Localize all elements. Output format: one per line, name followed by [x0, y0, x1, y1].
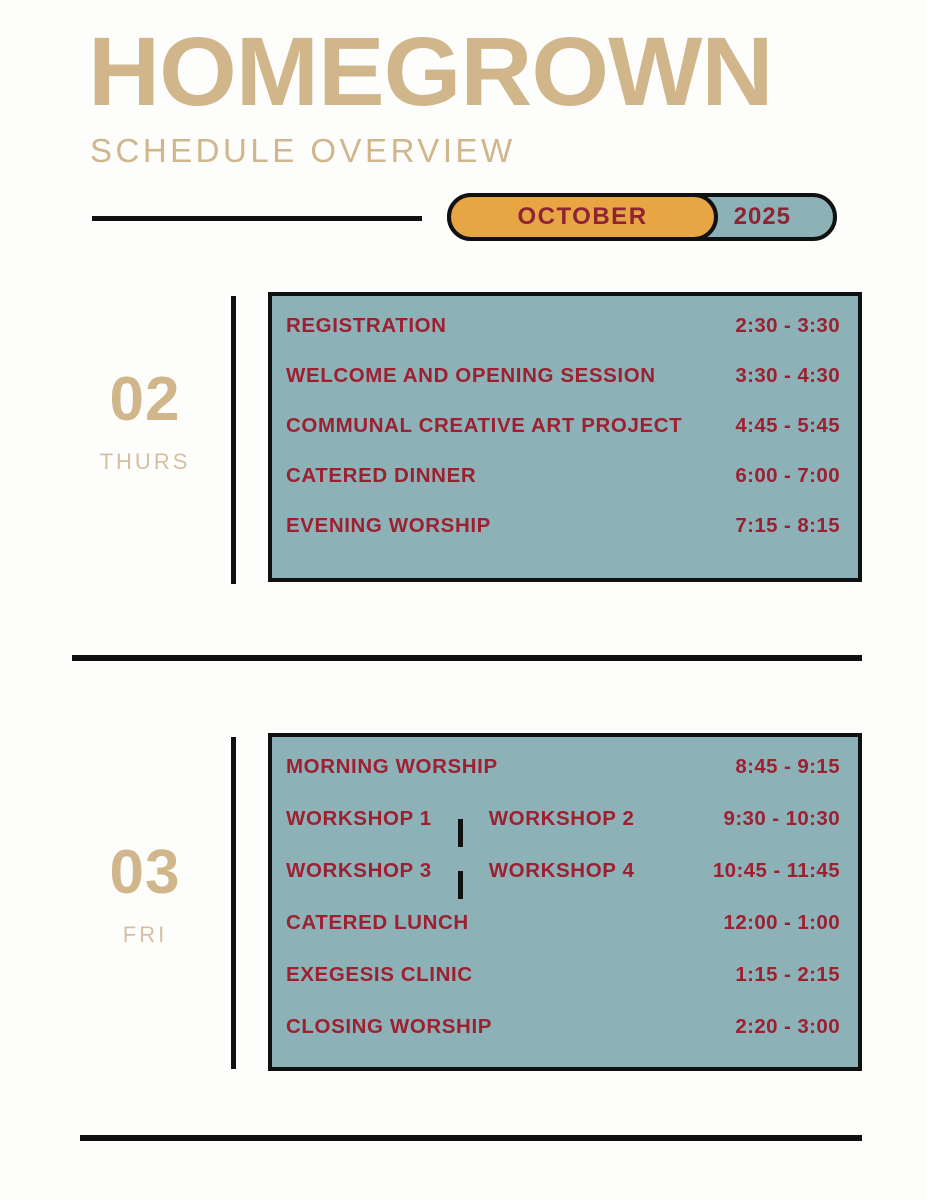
event-row: EVENING WORSHIP7:15 - 8:15 — [286, 514, 840, 564]
day-block: 03 FRI MORNING WORSHIP8:45 - 9:15WORKSHO… — [0, 733, 927, 1073]
event-name: MORNING WORSHIP — [286, 755, 498, 779]
event-name: CATERED LUNCH — [286, 911, 469, 935]
event-name-alt: WORKSHOP 2 — [489, 807, 635, 831]
event-name: EXEGESIS CLINIC — [286, 963, 473, 987]
section-divider — [80, 1135, 862, 1141]
event-row: COMMUNAL CREATIVE ART PROJECT4:45 - 5:45 — [286, 414, 840, 464]
day-label: 02 THURS — [60, 368, 230, 474]
day-weekday: FRI — [60, 923, 230, 947]
event-row: EXEGESIS CLINIC1:15 - 2:15 — [286, 963, 840, 1015]
event-row: REGISTRATION2:30 - 3:30 — [286, 314, 840, 364]
event-time: 1:15 - 2:15 — [735, 963, 840, 987]
event-time: 7:15 - 8:15 — [735, 514, 840, 538]
day-accent-bar — [231, 296, 236, 584]
day-block: 02 THURS REGISTRATION2:30 - 3:30WELCOME … — [0, 292, 927, 588]
event-row: WELCOME AND OPENING SESSION3:30 - 4:30 — [286, 364, 840, 414]
event-time: 6:00 - 7:00 — [735, 464, 840, 488]
day-events-panel: MORNING WORSHIP8:45 - 9:15WORKSHOP 1WORK… — [268, 733, 862, 1071]
date-pill: 2025 OCTOBER — [447, 193, 837, 241]
event-row: CATERED LUNCH12:00 - 1:00 — [286, 911, 840, 963]
event-row: WORKSHOP 3WORKSHOP 410:45 - 11:45 — [286, 859, 840, 911]
event-name-alt: WORKSHOP 4 — [489, 859, 635, 883]
event-session-divider — [458, 819, 463, 847]
event-time: 10:45 - 11:45 — [713, 859, 840, 883]
event-time: 4:45 - 5:45 — [735, 414, 840, 438]
event-name: CLOSING WORSHIP — [286, 1015, 492, 1039]
date-pill-year-label: 2025 — [734, 203, 791, 231]
event-time: 8:45 - 9:15 — [735, 755, 840, 779]
day-number: 03 — [60, 841, 230, 905]
event-name: COMMUNAL CREATIVE ART PROJECT — [286, 414, 682, 438]
page-subtitle: SCHEDULE OVERVIEW — [90, 132, 516, 170]
day-accent-bar — [231, 737, 236, 1069]
event-time: 9:30 - 10:30 — [724, 807, 840, 831]
event-name: WELCOME AND OPENING SESSION — [286, 364, 656, 388]
event-name: WORKSHOP 3 — [286, 859, 432, 883]
event-session-divider — [458, 871, 463, 899]
event-time: 2:20 - 3:00 — [735, 1015, 840, 1039]
date-pill-month-label: OCTOBER — [517, 203, 647, 231]
header-rule — [92, 216, 422, 221]
event-row: MORNING WORSHIP8:45 - 9:15 — [286, 755, 840, 807]
event-row: CLOSING WORSHIP2:20 - 3:00 — [286, 1015, 840, 1067]
event-name: EVENING WORSHIP — [286, 514, 491, 538]
day-label: 03 FRI — [60, 841, 230, 947]
event-name: REGISTRATION — [286, 314, 447, 338]
schedule-poster: HOMEGROWN SCHEDULE OVERVIEW 2025 OCTOBER… — [0, 0, 927, 1200]
event-time: 2:30 - 3:30 — [735, 314, 840, 338]
day-weekday: THURS — [60, 450, 230, 474]
day-number: 02 — [60, 368, 230, 432]
page-title: HOMEGROWN — [88, 22, 772, 122]
day-events-panel: REGISTRATION2:30 - 3:30WELCOME AND OPENI… — [268, 292, 862, 582]
event-name: WORKSHOP 1 — [286, 807, 432, 831]
event-time: 3:30 - 4:30 — [735, 364, 840, 388]
section-divider — [72, 655, 862, 661]
event-row: CATERED DINNER6:00 - 7:00 — [286, 464, 840, 514]
event-row: WORKSHOP 1WORKSHOP 29:30 - 10:30 — [286, 807, 840, 859]
event-time: 12:00 - 1:00 — [724, 911, 840, 935]
date-pill-month-segment: OCTOBER — [447, 193, 718, 241]
event-name: CATERED DINNER — [286, 464, 476, 488]
